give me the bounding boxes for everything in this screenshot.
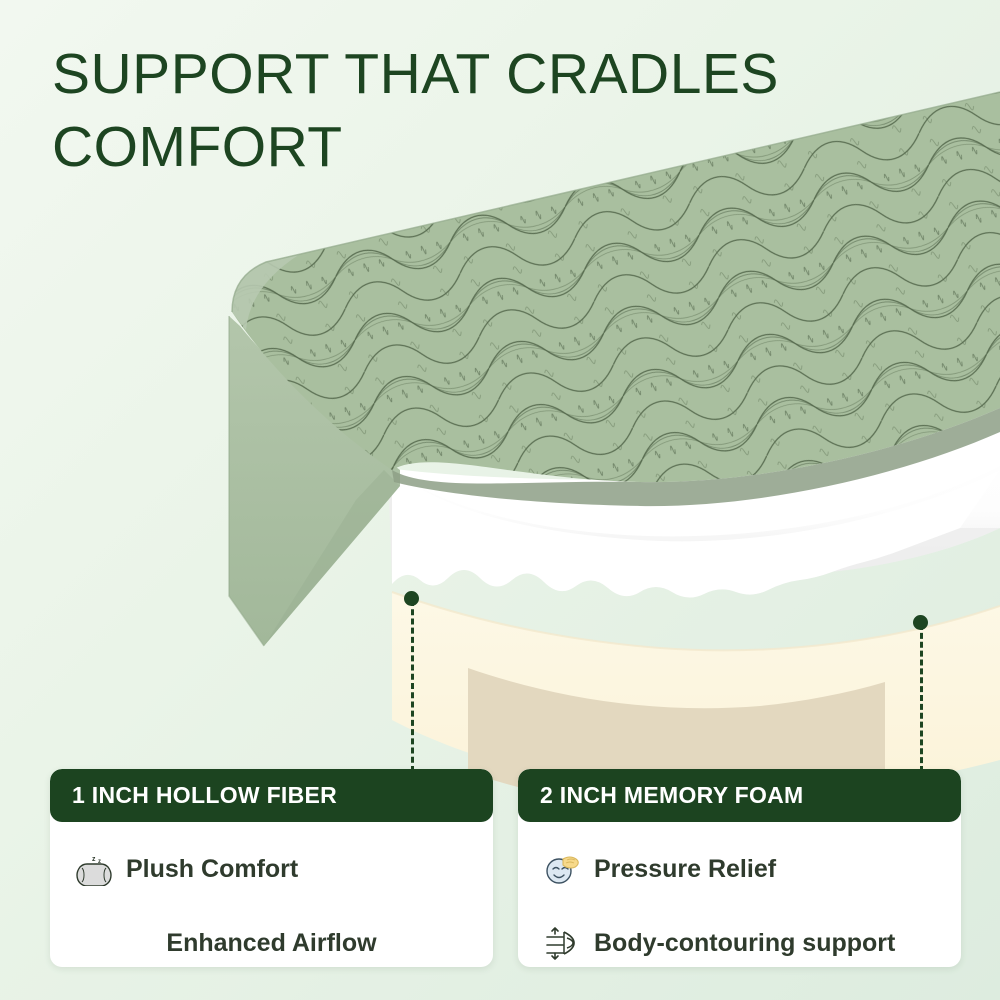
feature-label-plush-comfort: Plush Comfort (126, 855, 298, 884)
svg-text:z: z (92, 856, 96, 863)
callout-line-hollow-fiber (411, 600, 414, 772)
card-header-title: 2 INCH MEMORY FOAM (540, 782, 804, 809)
feature-label-enhanced-airflow: Enhanced Airflow (166, 929, 376, 958)
feature-label-body-contouring: Body-contouring support (594, 929, 895, 958)
feature-label-pressure-relief: Pressure Relief (594, 855, 776, 884)
card-body-memory-foam: Pressure Relief Body-contouring support (518, 838, 961, 967)
card-header-hollow-fiber: 1 INCH HOLLOW FIBER (50, 769, 493, 822)
feature-card-hollow-fiber[interactable]: 1 INCH HOLLOW FIBER z z z Plush Comfort … (50, 769, 493, 967)
infographic-root: SUPPORT THAT CRADLES COMFORT (0, 0, 1000, 1000)
feature-row-body-contouring[interactable]: Body-contouring support (518, 912, 961, 967)
callout-line-memory-foam (920, 624, 923, 772)
card-header-title: 1 INCH HOLLOW FIBER (72, 782, 337, 809)
feature-row-plush-comfort[interactable]: z z z Plush Comfort (50, 838, 493, 900)
pillow-zzz-icon: z z z (74, 849, 114, 889)
contour-pressure-icon (542, 923, 582, 963)
feature-card-memory-foam[interactable]: 2 INCH MEMORY FOAM Pressure Relief (518, 769, 961, 967)
relaxed-face-hand-icon (542, 849, 582, 889)
feature-row-pressure-relief[interactable]: Pressure Relief (518, 838, 961, 900)
card-header-memory-foam: 2 INCH MEMORY FOAM (518, 769, 961, 822)
feature-row-enhanced-airflow[interactable]: Enhanced Airflow (50, 912, 493, 967)
card-body-hollow-fiber: z z z Plush Comfort Enhanced Airflow (50, 838, 493, 967)
